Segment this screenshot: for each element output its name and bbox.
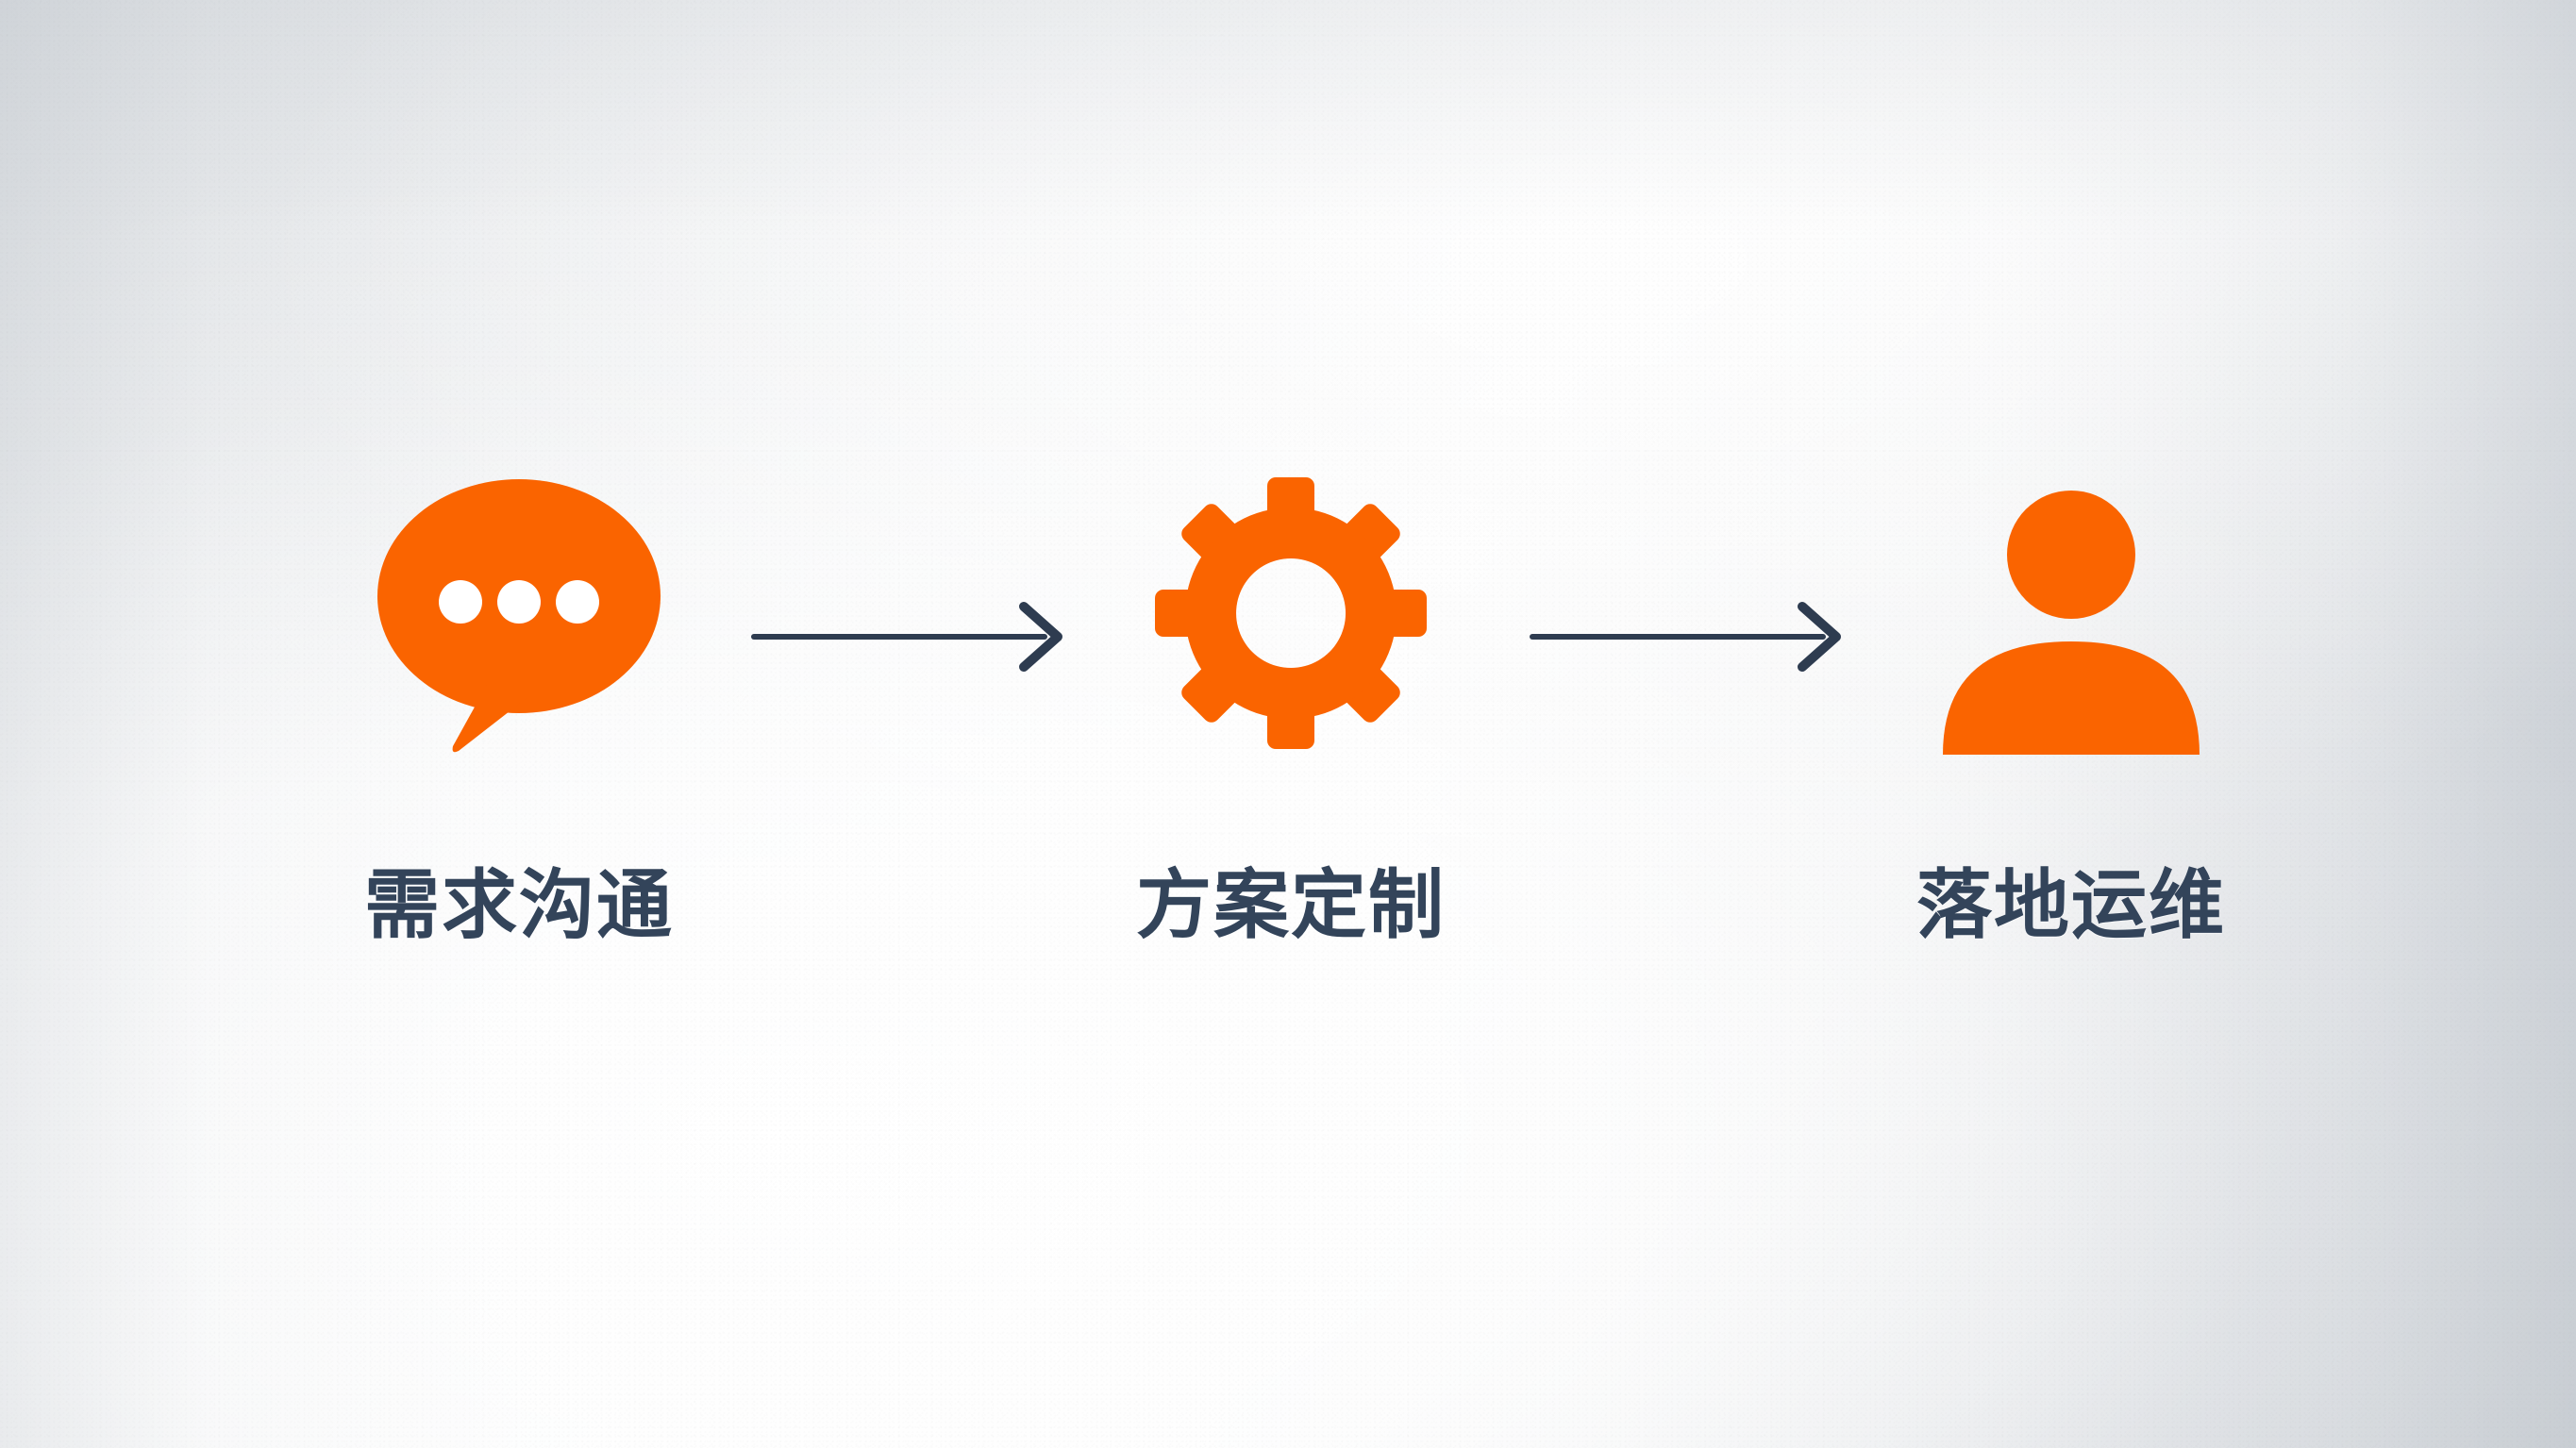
slide-canvas: 需求沟通 方案定制 xyxy=(0,0,2576,1448)
user-person-icon xyxy=(1930,472,2213,755)
flow-step-3-label: 落地运维 xyxy=(1807,868,2335,943)
flow-step-1-label: 需求沟通 xyxy=(255,868,783,943)
arrow-right-icon-2 xyxy=(1529,590,1849,684)
gear-icon xyxy=(1149,472,1432,755)
flow-step-2-label: 方案定制 xyxy=(1027,868,1555,943)
flow-step-2[interactable]: 方案定制 xyxy=(1027,472,1555,943)
flow-step-1[interactable]: 需求沟通 xyxy=(255,472,783,943)
speech-bubble-dots-icon xyxy=(368,472,670,755)
arrow-right-icon-1 xyxy=(750,590,1071,684)
flow-step-3[interactable]: 落地运维 xyxy=(1807,472,2335,943)
process-flow-diagram: 需求沟通 方案定制 xyxy=(0,0,2576,1448)
